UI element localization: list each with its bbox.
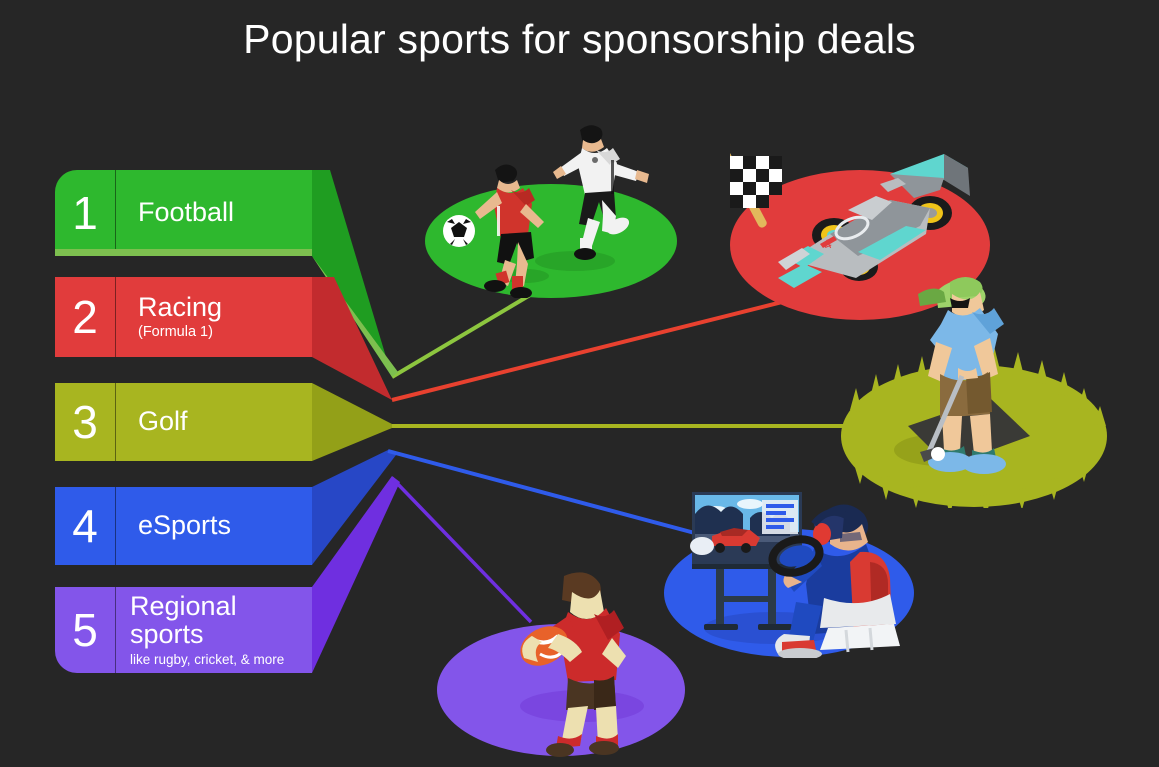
rank-number-3: 3 bbox=[55, 383, 115, 461]
wedge-regional bbox=[312, 476, 400, 673]
wedge-racing bbox=[312, 277, 392, 400]
rank-number-5: 5 bbox=[55, 587, 115, 673]
rank-row-golf[interactable]: 3 Golf bbox=[55, 383, 312, 461]
infographic-canvas: Popular sports for sponsorship deals bbox=[0, 0, 1159, 767]
rank-number-1: 1 bbox=[55, 170, 115, 256]
wedge-esports bbox=[312, 450, 396, 565]
wedge-golf bbox=[312, 383, 392, 461]
row-bevel-football bbox=[55, 249, 312, 256]
wedge-football bbox=[312, 170, 392, 377]
rank-row-esports[interactable]: 4 eSports bbox=[55, 487, 312, 565]
page-title: Popular sports for sponsorship deals bbox=[0, 16, 1159, 63]
rank-row-regional[interactable]: 5 Regional sports like rugby, cricket, &… bbox=[55, 587, 312, 673]
sport-label-esports: eSports bbox=[138, 512, 312, 540]
sport-label-regional-2: sports bbox=[130, 621, 312, 649]
rank-row-football[interactable]: 1 Football bbox=[55, 170, 312, 256]
esports-connector bbox=[388, 451, 706, 536]
wedge-football-bevel bbox=[312, 256, 398, 377]
sport-sublabel-regional: like rugby, cricket, & more bbox=[130, 652, 312, 667]
esports-illustration bbox=[664, 478, 914, 658]
sport-label-golf: Golf bbox=[138, 408, 312, 436]
sport-sublabel-racing: (Formula 1) bbox=[138, 324, 312, 340]
sport-label-regional: Regional bbox=[130, 593, 312, 621]
sport-label-racing: Racing bbox=[138, 294, 312, 322]
sport-label-football: Football bbox=[138, 199, 312, 227]
soccer-ball-icon bbox=[443, 215, 475, 247]
football-illustration bbox=[425, 118, 677, 298]
golf-illustration bbox=[840, 258, 1110, 508]
racing-connector bbox=[392, 302, 782, 400]
rank-number-2: 2 bbox=[55, 277, 115, 357]
rank-number-4: 4 bbox=[55, 487, 115, 565]
regional-sports-illustration bbox=[436, 568, 686, 758]
rank-row-racing[interactable]: 2 Racing (Formula 1) bbox=[55, 277, 312, 357]
